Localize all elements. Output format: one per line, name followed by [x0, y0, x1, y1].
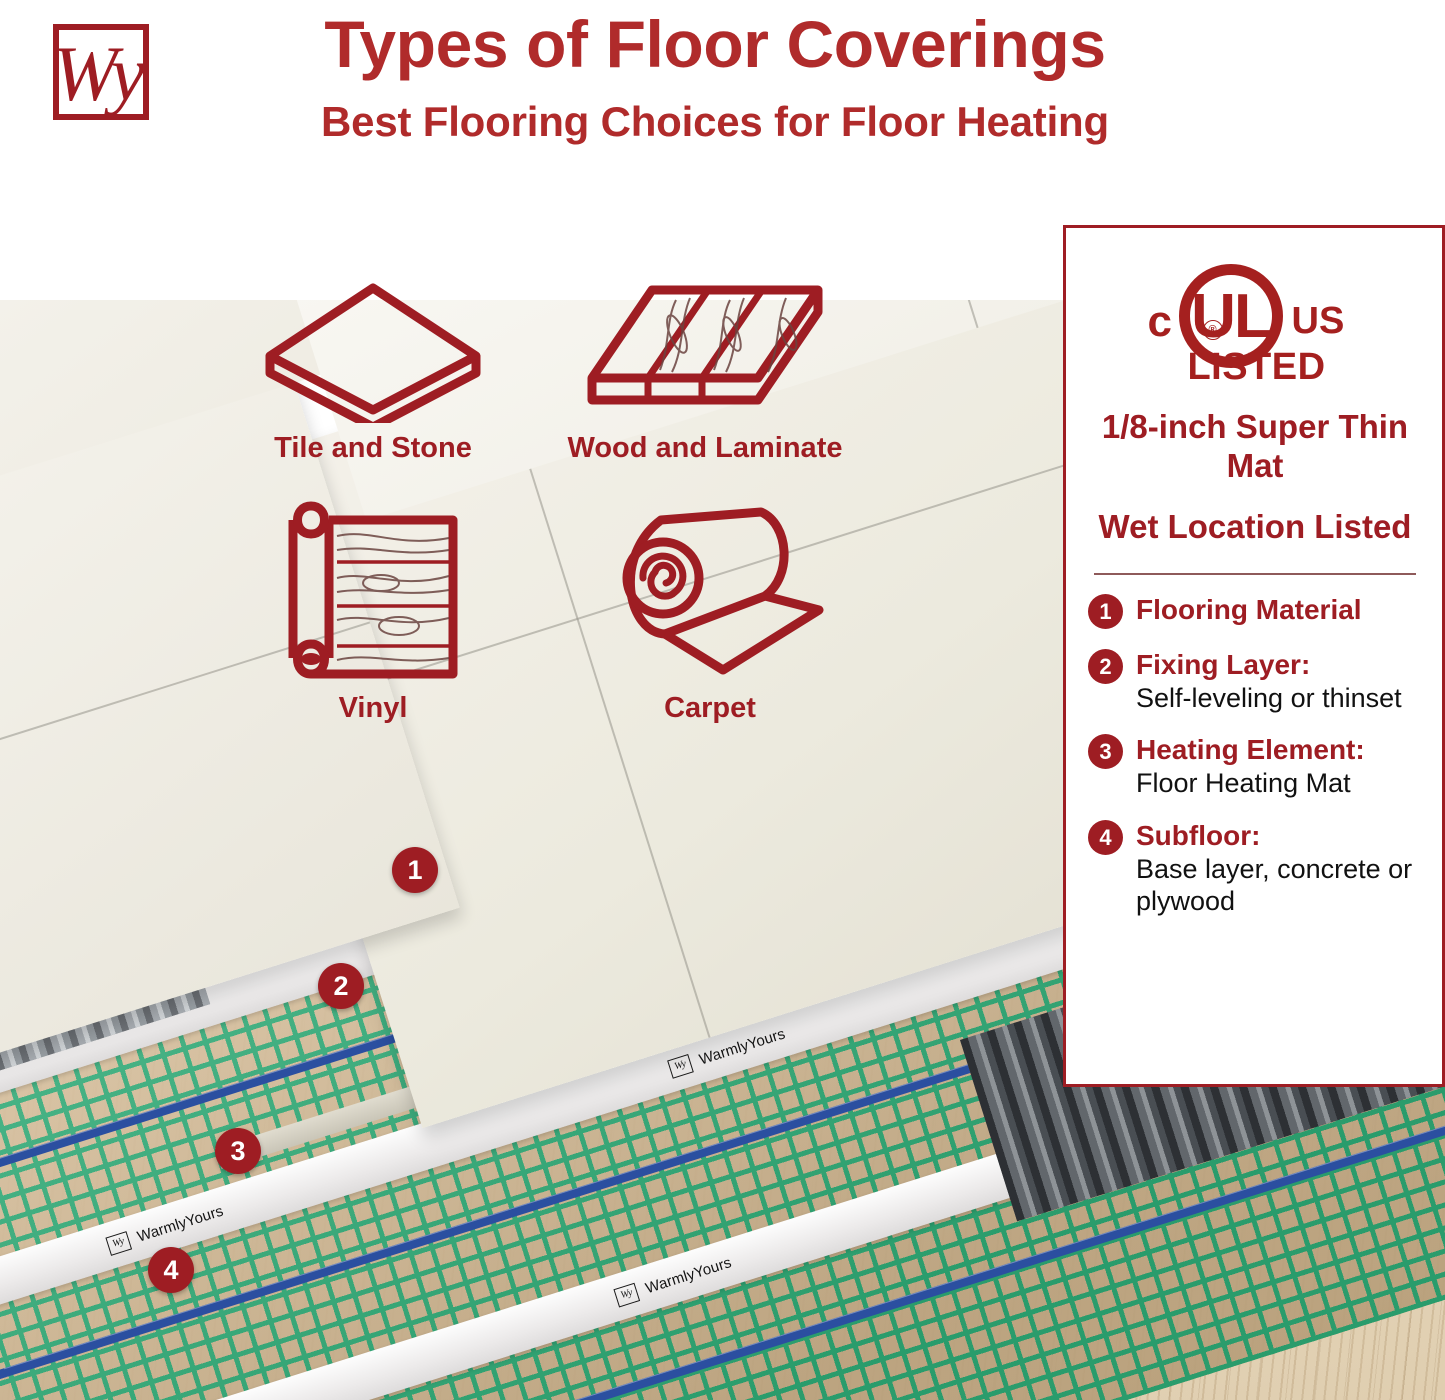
- covering-vinyl: Vinyl: [248, 498, 498, 725]
- legend-number: 2: [1088, 649, 1123, 684]
- legend-text: Heating Element: Floor Heating Mat: [1136, 733, 1422, 799]
- panel-divider: [1094, 573, 1416, 575]
- info-panel: c UL ® US LISTED 1/8-inch Super Thin Mat…: [1063, 225, 1445, 1087]
- wood-planks-icon: [580, 278, 830, 423]
- wy-logo-icon: [105, 1231, 132, 1256]
- brand-logo: Wy: [45, 18, 153, 126]
- carpet-roll-icon: [593, 498, 828, 683]
- legend-title: Subfloor:: [1136, 819, 1422, 852]
- covering-label: Carpet: [585, 692, 835, 725]
- legend-text: Subfloor: Base layer, concrete or plywoo…: [1136, 819, 1422, 918]
- covering-wood-and-laminate: Wood and Laminate: [545, 278, 865, 465]
- legend-subtitle: Self-leveling or thinset: [1136, 682, 1422, 714]
- page-title: Types of Floor Coverings: [170, 6, 1260, 82]
- wy-logo-icon: [667, 1053, 694, 1078]
- legend-number: 4: [1088, 820, 1123, 855]
- callout-number: 4: [163, 1257, 178, 1284]
- logo-monogram: Wy: [45, 18, 153, 130]
- legend-title: Flooring Material: [1136, 593, 1422, 626]
- cul-us-listed-icon: c UL ® US LISTED: [1148, 264, 1363, 382]
- legend-item-1: 1 Flooring Material: [1088, 593, 1422, 629]
- callout-number: 1: [407, 857, 422, 884]
- page-header: Wy Types of Floor Coverings Best Floorin…: [0, 0, 1445, 200]
- panel-headline-wet-location: Wet Location Listed: [1088, 508, 1422, 547]
- covering-label: Tile and Stone: [228, 432, 518, 465]
- legend-number: 1: [1088, 594, 1123, 629]
- certification-mark: c UL ® US LISTED: [1088, 264, 1422, 382]
- ul-suffix-us: US: [1292, 302, 1345, 340]
- callout-badge-4: 4: [148, 1247, 194, 1293]
- legend-item-3: 3 Heating Element: Floor Heating Mat: [1088, 733, 1422, 799]
- tile-slab-icon: [258, 278, 488, 423]
- vinyl-roll-icon: [271, 498, 476, 683]
- registered-icon: ®: [1203, 320, 1223, 340]
- panel-headline-thin-mat: 1/8-inch Super Thin Mat: [1088, 408, 1422, 486]
- callout-badge-1: 1: [392, 847, 438, 893]
- callout-badge-2: 2: [318, 963, 364, 1009]
- legend-item-4: 4 Subfloor: Base layer, concrete or plyw…: [1088, 819, 1422, 918]
- wy-logo-icon: [613, 1282, 640, 1307]
- callout-number: 3: [230, 1138, 245, 1165]
- ul-prefix-c: c: [1148, 300, 1172, 344]
- callout-number: 2: [333, 973, 348, 1000]
- covering-carpet: Carpet: [585, 498, 835, 725]
- legend-title: Heating Element:: [1136, 733, 1422, 766]
- legend-item-2: 2 Fixing Layer: Self-leveling or thinset: [1088, 648, 1422, 714]
- ul-listed-text: LISTED: [1172, 348, 1342, 386]
- callout-badge-3: 3: [215, 1128, 261, 1174]
- legend-subtitle: Base layer, concrete or plywood: [1136, 853, 1422, 918]
- covering-label: Wood and Laminate: [545, 432, 865, 465]
- legend-text: Fixing Layer: Self-leveling or thinset: [1136, 648, 1422, 714]
- covering-tile-and-stone: Tile and Stone: [228, 278, 518, 465]
- legend-number: 3: [1088, 734, 1123, 769]
- covering-label: Vinyl: [248, 692, 498, 725]
- legend-text: Flooring Material: [1136, 593, 1422, 626]
- page-subtitle: Best Flooring Choices for Floor Heating: [170, 98, 1260, 146]
- legend-title: Fixing Layer:: [1136, 648, 1422, 681]
- legend-subtitle: Floor Heating Mat: [1136, 767, 1422, 799]
